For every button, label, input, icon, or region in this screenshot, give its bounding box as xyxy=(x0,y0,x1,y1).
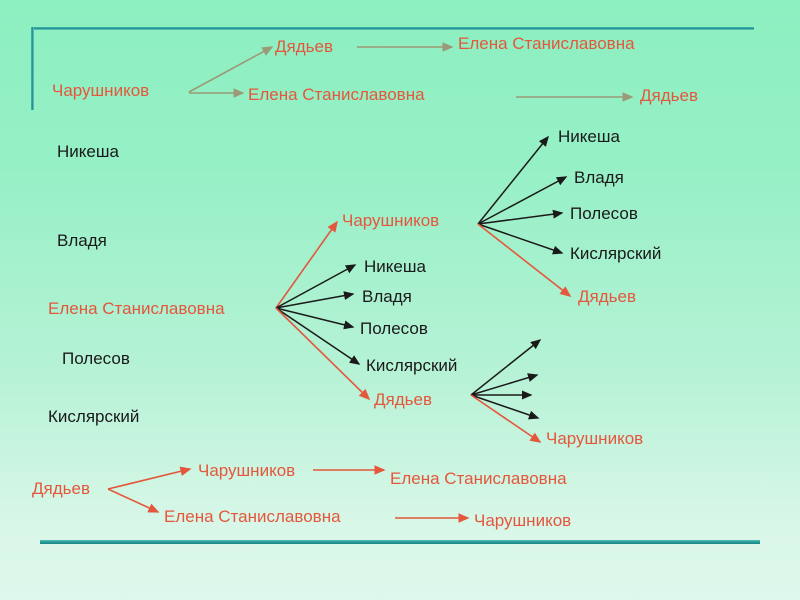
right-item-charushnikov[interactable]: Чарушников xyxy=(546,430,643,447)
edge-dyadyev-branch-4 xyxy=(471,395,538,418)
frame-top-rule xyxy=(32,27,754,30)
slide-canvas: Чарушников Дядьев Елена Станиславовна Ел… xyxy=(0,0,800,600)
edge-dyadyev-branch-2 xyxy=(471,375,537,395)
edge-elena-to-nikesha xyxy=(276,265,355,308)
edge-group-charushnikov-fan xyxy=(478,137,570,296)
top-branch-dyadyev[interactable]: Дядьев xyxy=(275,38,333,55)
top-branch-elena[interactable]: Елена Станиславовна xyxy=(248,86,425,103)
left-item-kislyarsky[interactable]: Кислярский xyxy=(48,408,139,425)
right-item-polesov[interactable]: Полесов xyxy=(570,205,638,222)
right-item-nikesha[interactable]: Никеша xyxy=(558,128,620,145)
bottom-leaf-charushnikov[interactable]: Чарушников xyxy=(474,512,571,529)
right-item-kislyarsky[interactable]: Кислярский xyxy=(570,245,661,262)
edge-group-dyadyev-fan xyxy=(471,340,540,442)
edge-elena-to-vladya xyxy=(276,294,353,308)
top-root-charushnikov[interactable]: Чарушников xyxy=(52,82,149,99)
middle-item-polesov[interactable]: Полесов xyxy=(360,320,428,337)
edge-dyadyev-to-charushnikov xyxy=(471,395,540,442)
edge-elena-to-dyadyev xyxy=(276,308,369,399)
edge-elena-to-kislyarsky xyxy=(276,308,359,364)
edge-elena-to-charushnikov xyxy=(276,222,337,308)
frame-bottom-rule xyxy=(40,540,760,544)
left-item-elena[interactable]: Елена Станиславовна xyxy=(48,300,225,317)
edge-charushnikov-to-nikesha xyxy=(478,137,548,224)
middle-item-kislyarsky[interactable]: Кислярский xyxy=(366,357,457,374)
edge-charushnikov-to-vladya xyxy=(478,177,566,224)
top-leaf-elena[interactable]: Елена Станиславовна xyxy=(458,35,635,52)
edge-charushnikov-to-kislyarsky xyxy=(478,224,562,253)
right-item-vladya[interactable]: Владя xyxy=(574,169,624,186)
edge-bottom-dyadyev-to-charushnikov xyxy=(108,469,190,489)
bottom-branch-elena[interactable]: Елена Станиславовна xyxy=(164,508,341,525)
middle-item-dyadyev[interactable]: Дядьев xyxy=(374,391,432,408)
right-item-dyadyev[interactable]: Дядьев xyxy=(578,288,636,305)
edge-group-elena-fan xyxy=(276,222,369,399)
edge-dyadyev-branch-1 xyxy=(471,340,540,395)
middle-item-nikesha[interactable]: Никеша xyxy=(364,258,426,275)
edge-charushnikov-to-polesov xyxy=(478,213,562,224)
edge-bottom-dyadyev-to-elena xyxy=(108,489,158,512)
left-item-nikesha[interactable]: Никеша xyxy=(57,143,119,160)
left-item-polesov[interactable]: Полесов xyxy=(62,350,130,367)
left-item-vladya[interactable]: Владя xyxy=(57,232,107,249)
frame-left-rule xyxy=(31,27,34,110)
edge-elena-to-polesov xyxy=(276,308,353,327)
top-leaf-dyadyev[interactable]: Дядьев xyxy=(640,87,698,104)
middle-item-vladya[interactable]: Владя xyxy=(362,288,412,305)
bottom-root-dyadyev[interactable]: Дядьев xyxy=(32,480,90,497)
middle-item-charushnikov[interactable]: Чарушников xyxy=(342,212,439,229)
bottom-leaf-elena[interactable]: Елена Станиславовна xyxy=(390,470,567,487)
bottom-branch-charushnikov[interactable]: Чарушников xyxy=(198,462,295,479)
edge-charushnikov-to-dyadyev xyxy=(478,224,570,296)
